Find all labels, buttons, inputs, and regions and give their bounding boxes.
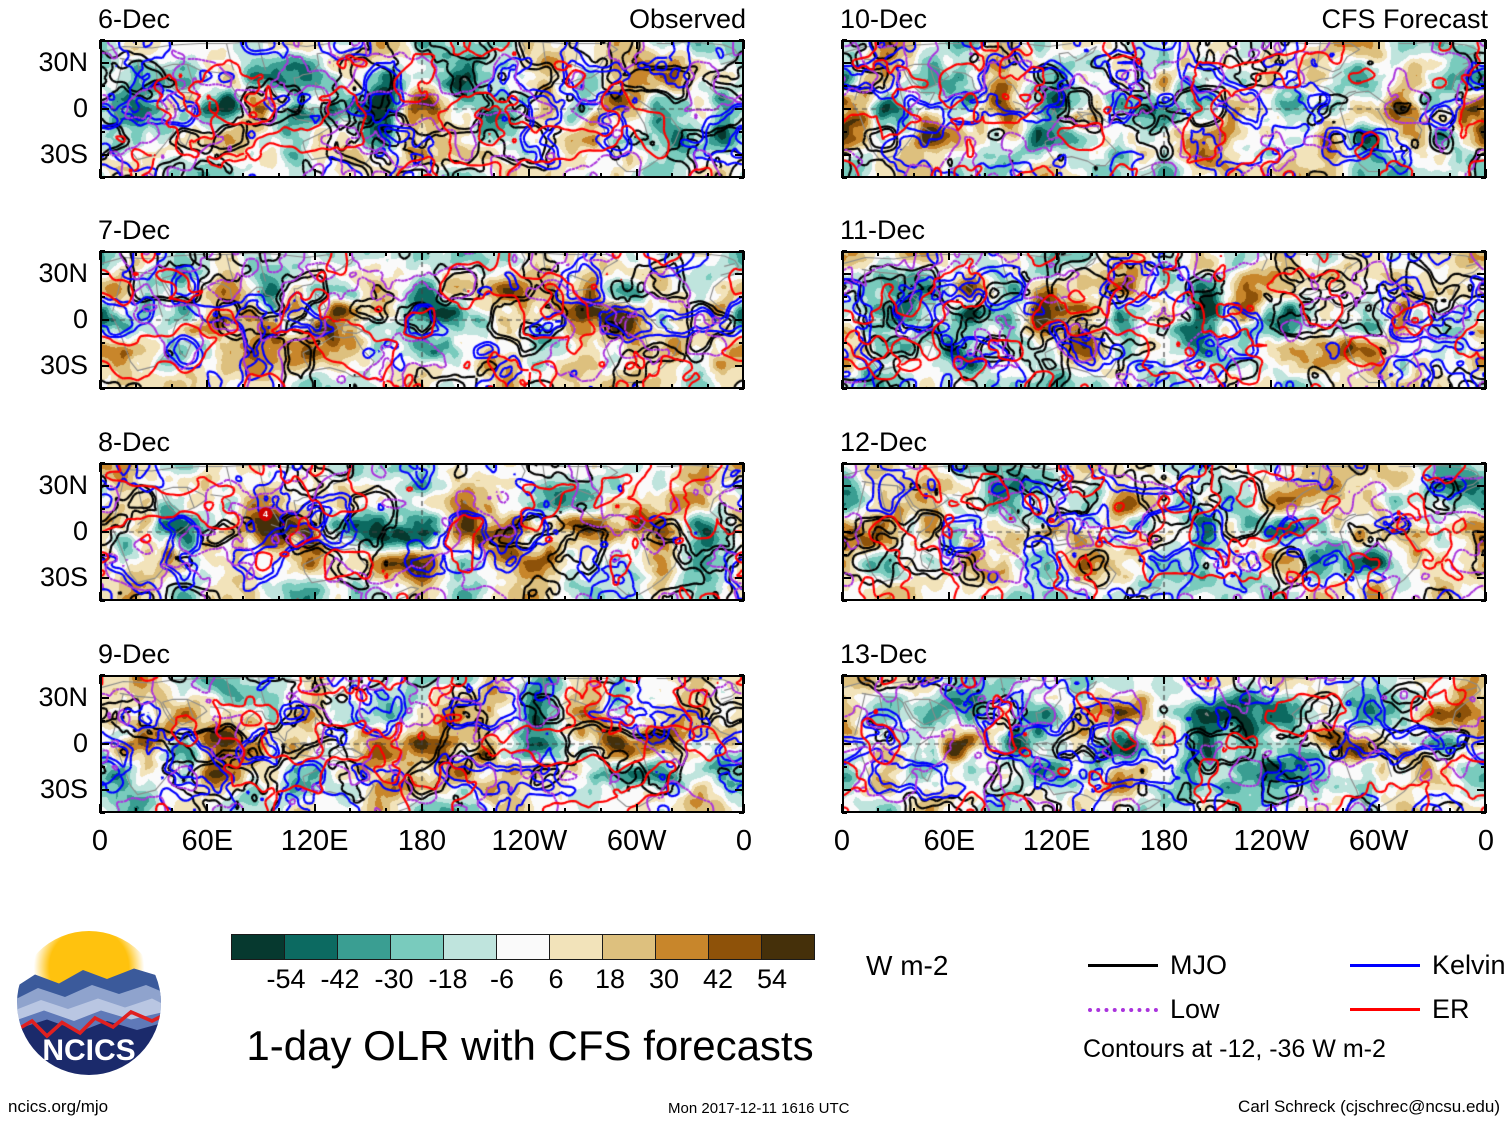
map-plot-area [842, 251, 1486, 389]
x-tick-bottom [1235, 173, 1237, 178]
x-tick-top [421, 675, 423, 684]
x-axis-label: 120E [255, 827, 375, 856]
y-tick-left [842, 108, 851, 110]
x-tick-top [1270, 40, 1272, 49]
y-tick-left [842, 296, 847, 298]
x-tick-bottom [421, 804, 423, 813]
x-tick-bottom [1056, 169, 1058, 178]
x-tick-bottom [1449, 596, 1451, 601]
y-tick-right [1481, 131, 1486, 133]
y-axis-label: 30S [0, 352, 88, 379]
x-tick-top [1485, 675, 1487, 684]
x-tick-bottom [707, 808, 709, 813]
x-tick-bottom [913, 596, 915, 601]
x-tick-top [1485, 463, 1487, 472]
x-tick-top [1127, 40, 1129, 45]
x-tick-top [1199, 463, 1201, 468]
x-tick-top [528, 40, 530, 49]
x-tick-top [564, 675, 566, 680]
x-tick-bottom [877, 596, 879, 601]
y-axis-label: 30S [0, 776, 88, 803]
x-tick-top [1378, 675, 1380, 684]
y-tick-right [739, 720, 744, 722]
ncics-logo-graphic: NCICS [14, 928, 164, 1078]
y-tick-left [100, 789, 109, 791]
x-tick-top [841, 40, 843, 49]
x-tick-bottom [707, 384, 709, 389]
x-tick-top [1306, 40, 1308, 45]
y-tick-left [842, 273, 851, 275]
colorbar-swatch [443, 934, 497, 960]
x-tick-bottom [1199, 384, 1201, 389]
x-tick-bottom [1163, 380, 1165, 389]
y-tick-right [735, 365, 744, 367]
y-tick-left [100, 508, 105, 510]
x-tick-top [1020, 463, 1022, 468]
x-tick-bottom [1199, 173, 1201, 178]
x-tick-bottom [600, 596, 602, 601]
x-tick-bottom [1091, 384, 1093, 389]
x-tick-top [528, 251, 530, 260]
x-tick-bottom [1413, 596, 1415, 601]
x-tick-top [948, 675, 950, 684]
x-tick-bottom [1199, 596, 1201, 601]
y-tick-left [100, 365, 109, 367]
x-tick-top [493, 463, 495, 468]
x-tick-bottom [1235, 808, 1237, 813]
x-tick-bottom [206, 592, 208, 601]
x-tick-top [171, 675, 173, 680]
x-tick-top [1306, 251, 1308, 256]
x-tick-top [314, 251, 316, 260]
x-tick-bottom [242, 384, 244, 389]
x-tick-top [1235, 675, 1237, 680]
x-tick-bottom [493, 808, 495, 813]
x-tick-top [135, 251, 137, 256]
x-tick-top [1413, 40, 1415, 45]
legend-item-kelvin: Kelvin [1350, 950, 1506, 981]
x-tick-top [206, 251, 208, 260]
y-tick-right [1481, 508, 1486, 510]
x-tick-top [421, 40, 423, 49]
x-tick-top [877, 463, 879, 468]
y-tick-left [842, 720, 847, 722]
x-tick-top [1342, 40, 1344, 45]
y-tick-right [1481, 342, 1486, 344]
x-tick-bottom [984, 384, 986, 389]
x-tick-top [1056, 675, 1058, 684]
x-tick-bottom [135, 596, 137, 601]
x-tick-bottom [707, 173, 709, 178]
x-tick-top [385, 675, 387, 680]
x-tick-top [385, 463, 387, 468]
x-tick-top [1091, 40, 1093, 45]
x-tick-top [99, 675, 101, 684]
footer-author-contact[interactable]: Carl Schreck (cjschrec@ncsu.edu) [1238, 1097, 1500, 1117]
x-tick-top [278, 463, 280, 468]
y-tick-left [100, 85, 105, 87]
y-tick-right [739, 85, 744, 87]
colorbar-swatch [602, 934, 656, 960]
panel-column-header: Observed [629, 6, 746, 33]
x-tick-bottom [1199, 808, 1201, 813]
x-tick-top [206, 463, 208, 472]
x-tick-top [948, 40, 950, 49]
x-axis-label: 180 [1104, 827, 1224, 856]
ncics-logo[interactable]: NCICS [14, 928, 164, 1083]
x-tick-bottom [1270, 380, 1272, 389]
y-tick-right [739, 462, 744, 464]
x-tick-top [1163, 675, 1165, 684]
x-tick-top [564, 463, 566, 468]
x-tick-bottom [1056, 380, 1058, 389]
y-tick-left [842, 250, 847, 252]
olr-anomaly-field [844, 677, 1484, 811]
x-tick-bottom [984, 596, 986, 601]
x-axis-label: 0 [782, 827, 902, 856]
legend-line-swatch [1350, 1008, 1420, 1011]
x-tick-bottom [1342, 596, 1344, 601]
y-axis-label: 0 [0, 95, 88, 122]
x-tick-bottom [314, 592, 316, 601]
y-tick-right [1481, 720, 1486, 722]
x-tick-top [99, 40, 101, 49]
x-tick-bottom [1342, 808, 1344, 813]
x-tick-bottom [913, 173, 915, 178]
x-tick-bottom [671, 808, 673, 813]
y-tick-right [735, 697, 744, 699]
x-tick-top [242, 675, 244, 680]
x-tick-bottom [528, 804, 530, 813]
y-tick-right [1481, 462, 1486, 464]
x-tick-top [278, 40, 280, 45]
x-tick-bottom [206, 169, 208, 178]
y-tick-left [100, 600, 105, 602]
x-tick-top [206, 675, 208, 684]
y-tick-right [1481, 388, 1486, 390]
colorbar-tick-label: 54 [727, 966, 817, 993]
x-tick-bottom [1020, 384, 1022, 389]
x-tick-bottom [457, 808, 459, 813]
legend-line-swatch [1350, 964, 1420, 967]
x-tick-bottom [877, 173, 879, 178]
y-tick-right [1477, 365, 1486, 367]
y-tick-left [842, 131, 847, 133]
y-tick-right [1481, 674, 1486, 676]
x-tick-top [948, 251, 950, 260]
y-tick-right [739, 554, 744, 556]
footer-website-link[interactable]: ncics.org/mjo [8, 1097, 108, 1117]
y-tick-right [739, 296, 744, 298]
x-tick-bottom [1378, 592, 1380, 601]
x-tick-bottom [1056, 592, 1058, 601]
x-tick-bottom [948, 380, 950, 389]
x-tick-top [171, 251, 173, 256]
x-tick-bottom [278, 384, 280, 389]
legend-line-swatch [1088, 1008, 1158, 1012]
y-tick-right [739, 812, 744, 814]
y-tick-left [100, 766, 105, 768]
x-tick-bottom [1342, 173, 1344, 178]
x-tick-bottom [600, 173, 602, 178]
x-tick-bottom [671, 384, 673, 389]
x-tick-top [984, 251, 986, 256]
legend-label: Kelvin [1432, 950, 1506, 981]
x-tick-bottom [948, 592, 950, 601]
y-tick-left [842, 508, 847, 510]
x-tick-bottom [457, 596, 459, 601]
colorbar-swatch [655, 934, 709, 960]
colorbar-swatch [761, 934, 815, 960]
x-tick-bottom [385, 808, 387, 813]
x-tick-bottom [493, 173, 495, 178]
x-tick-top [671, 251, 673, 256]
y-tick-right [1481, 296, 1486, 298]
x-tick-top [1413, 675, 1415, 680]
x-tick-bottom [1020, 808, 1022, 813]
y-tick-left [842, 674, 847, 676]
x-tick-bottom [1091, 173, 1093, 178]
x-tick-bottom [1235, 596, 1237, 601]
y-tick-left [842, 554, 847, 556]
x-tick-bottom [1270, 592, 1272, 601]
x-tick-bottom [278, 596, 280, 601]
map-plot-area [100, 675, 744, 813]
y-tick-right [1477, 531, 1486, 533]
olr-anomaly-field [102, 465, 742, 599]
x-tick-bottom [1056, 804, 1058, 813]
map-plot-area [100, 40, 744, 178]
y-tick-right [1477, 319, 1486, 321]
y-tick-right [735, 62, 744, 64]
x-tick-bottom [1449, 173, 1451, 178]
x-tick-top [1056, 40, 1058, 49]
y-tick-right [1477, 577, 1486, 579]
x-tick-top [743, 40, 745, 49]
y-tick-left [100, 342, 105, 344]
y-tick-left [842, 365, 851, 367]
y-axis-label: 30S [0, 141, 88, 168]
map-plot-area [842, 40, 1486, 178]
x-tick-top [1199, 675, 1201, 680]
legend-label: ER [1432, 994, 1470, 1025]
x-tick-bottom [278, 808, 280, 813]
x-tick-top [1056, 251, 1058, 260]
x-tick-top [1449, 40, 1451, 45]
x-tick-bottom [1163, 169, 1165, 178]
x-tick-top [493, 40, 495, 45]
y-tick-left [842, 743, 851, 745]
x-tick-top [1306, 675, 1308, 680]
map-plot-area [100, 251, 744, 389]
legend-label: Low [1170, 994, 1220, 1025]
x-tick-top [743, 675, 745, 684]
x-tick-bottom [349, 808, 351, 813]
panel-date-label: 9-Dec [98, 641, 170, 668]
y-tick-right [739, 508, 744, 510]
x-tick-top [707, 251, 709, 256]
x-tick-top [135, 40, 137, 45]
y-tick-right [1481, 177, 1486, 179]
x-tick-top [636, 251, 638, 260]
y-axis-label: 0 [0, 730, 88, 757]
y-tick-right [739, 766, 744, 768]
x-tick-bottom [1020, 173, 1022, 178]
x-tick-top [913, 251, 915, 256]
x-axis-label: 0 [40, 827, 160, 856]
x-axis-label: 60E [147, 827, 267, 856]
x-tick-top [877, 40, 879, 45]
x-tick-top [1235, 463, 1237, 468]
x-tick-top [913, 40, 915, 45]
x-tick-bottom [528, 169, 530, 178]
x-tick-bottom [206, 804, 208, 813]
x-tick-top [564, 251, 566, 256]
panel-date-label: 8-Dec [98, 429, 170, 456]
x-tick-top [528, 463, 530, 472]
x-tick-bottom [1378, 804, 1380, 813]
x-tick-bottom [457, 384, 459, 389]
x-tick-bottom [1270, 804, 1272, 813]
panel-column-header: CFS Forecast [1321, 6, 1488, 33]
x-tick-bottom [1127, 596, 1129, 601]
x-tick-bottom [206, 380, 208, 389]
colorbar-swatch [337, 934, 391, 960]
olr-anomaly-field [844, 42, 1484, 176]
x-tick-top [984, 40, 986, 45]
x-tick-bottom [421, 592, 423, 601]
x-tick-bottom [493, 596, 495, 601]
x-tick-top [1199, 251, 1201, 256]
x-axis-label: 180 [362, 827, 482, 856]
colorbar [232, 934, 815, 960]
x-tick-bottom [564, 173, 566, 178]
x-tick-bottom [385, 173, 387, 178]
x-tick-bottom [135, 384, 137, 389]
y-tick-left [100, 131, 105, 133]
x-tick-top [841, 675, 843, 684]
x-tick-top [743, 251, 745, 260]
x-tick-top [707, 463, 709, 468]
x-tick-top [457, 251, 459, 256]
x-tick-bottom [707, 596, 709, 601]
x-tick-bottom [314, 169, 316, 178]
x-tick-top [1342, 463, 1344, 468]
x-tick-top [278, 675, 280, 680]
y-tick-left [842, 154, 851, 156]
map-plot-area [842, 675, 1486, 813]
x-tick-bottom [528, 380, 530, 389]
x-tick-top [636, 463, 638, 472]
y-tick-right [1477, 743, 1486, 745]
x-tick-top [349, 251, 351, 256]
olr-anomaly-field [844, 465, 1484, 599]
x-tick-bottom [385, 596, 387, 601]
x-tick-bottom [636, 380, 638, 389]
x-tick-top [99, 251, 101, 260]
y-tick-left [842, 485, 851, 487]
panel-date-label: 7-Dec [98, 217, 170, 244]
x-tick-top [948, 463, 950, 472]
x-tick-top [1091, 675, 1093, 680]
y-tick-left [842, 697, 851, 699]
x-tick-bottom [1020, 596, 1022, 601]
y-tick-right [1477, 62, 1486, 64]
x-tick-top [1091, 463, 1093, 468]
y-tick-right [739, 39, 744, 41]
x-axis-label: 60W [1319, 827, 1439, 856]
x-tick-top [1449, 463, 1451, 468]
x-tick-top [1413, 463, 1415, 468]
ncics-logo-text: NCICS [42, 1034, 135, 1067]
x-tick-top [135, 675, 137, 680]
colorbar-units-label: W m-2 [866, 950, 948, 982]
y-tick-right [1477, 485, 1486, 487]
y-tick-left [842, 789, 851, 791]
x-tick-bottom [877, 384, 879, 389]
x-tick-top [877, 251, 879, 256]
x-axis-label: 120W [1211, 827, 1331, 856]
x-tick-top [841, 463, 843, 472]
x-tick-top [1163, 40, 1165, 49]
x-tick-top [242, 463, 244, 468]
y-tick-left [100, 531, 109, 533]
y-tick-left [100, 108, 109, 110]
x-tick-top [1056, 463, 1058, 472]
x-tick-top [1378, 251, 1380, 260]
x-tick-top [1163, 463, 1165, 472]
x-tick-bottom [385, 384, 387, 389]
y-tick-right [739, 250, 744, 252]
olr-anomaly-field [102, 253, 742, 387]
colorbar-swatch [708, 934, 762, 960]
y-tick-right [1481, 600, 1486, 602]
y-tick-left [842, 812, 847, 814]
y-tick-right [1481, 39, 1486, 41]
olr-anomaly-field [102, 677, 742, 811]
y-tick-left [100, 177, 105, 179]
x-tick-bottom [171, 808, 173, 813]
x-tick-top [1270, 463, 1272, 472]
x-tick-bottom [493, 384, 495, 389]
x-tick-bottom [636, 169, 638, 178]
y-axis-label: 30S [0, 564, 88, 591]
x-tick-top [841, 251, 843, 260]
x-tick-top [877, 675, 879, 680]
figure-title: 1-day OLR with CFS forecasts [190, 1022, 870, 1070]
x-tick-top [385, 40, 387, 45]
x-tick-top [528, 675, 530, 684]
y-tick-right [735, 743, 744, 745]
x-tick-bottom [1378, 169, 1380, 178]
x-tick-bottom [1306, 384, 1308, 389]
x-tick-bottom [421, 169, 423, 178]
y-tick-left [100, 39, 105, 41]
x-tick-top [493, 251, 495, 256]
legend-label: MJO [1170, 950, 1227, 981]
x-tick-bottom [457, 173, 459, 178]
x-tick-bottom [671, 596, 673, 601]
x-tick-bottom [1091, 596, 1093, 601]
y-axis-label: 30N [0, 260, 88, 287]
x-tick-bottom [171, 596, 173, 601]
y-tick-right [735, 577, 744, 579]
panel-date-label: 10-Dec [840, 6, 927, 33]
x-tick-bottom [1270, 169, 1272, 178]
x-tick-bottom [671, 173, 673, 178]
y-tick-left [842, 177, 847, 179]
x-tick-top [1485, 251, 1487, 260]
